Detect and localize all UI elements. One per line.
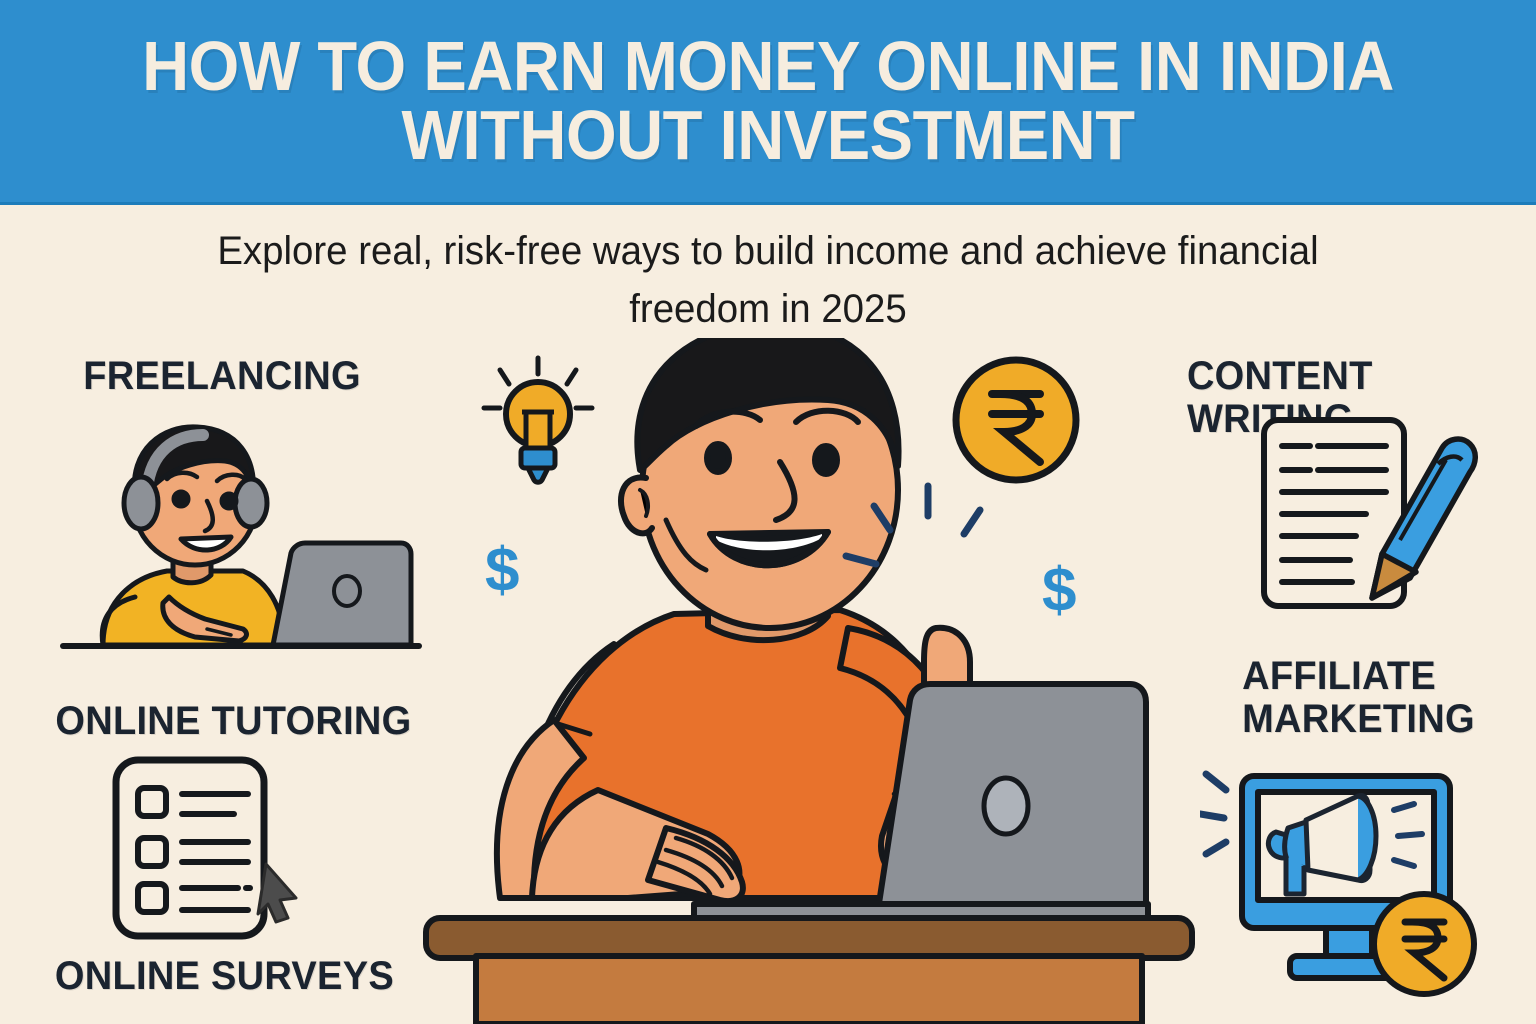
rupee-coin-icon [948,352,1084,493]
monitor-megaphone-icon [1200,762,1490,1017]
label-online-surveys: ONLINE SURVEYS [55,955,394,998]
label-online-tutoring: ONLINE TUTORING [55,700,411,743]
dollar-sign-icon-right: $ [1042,560,1076,622]
man-thumbs-up-laptop-illustration [408,338,1208,1024]
document-pencil-icon [1250,412,1485,617]
subtitle: Explore real, risk-free ways to build in… [144,222,1392,338]
freelancer-with-headset-icon [55,405,425,655]
label-affiliate-marketing: AFFILIATE MARKETING [1242,655,1475,741]
infographic-canvas: HOW TO EARN MONEY ONLINE IN INDIA WITHOU… [0,0,1536,1024]
page-title: HOW TO EARN MONEY ONLINE IN INDIA WITHOU… [71,32,1466,169]
survey-checklist-icon [100,752,320,947]
header-banner: HOW TO EARN MONEY ONLINE IN INDIA WITHOU… [0,0,1536,205]
label-freelancing: FREELANCING [83,355,361,398]
